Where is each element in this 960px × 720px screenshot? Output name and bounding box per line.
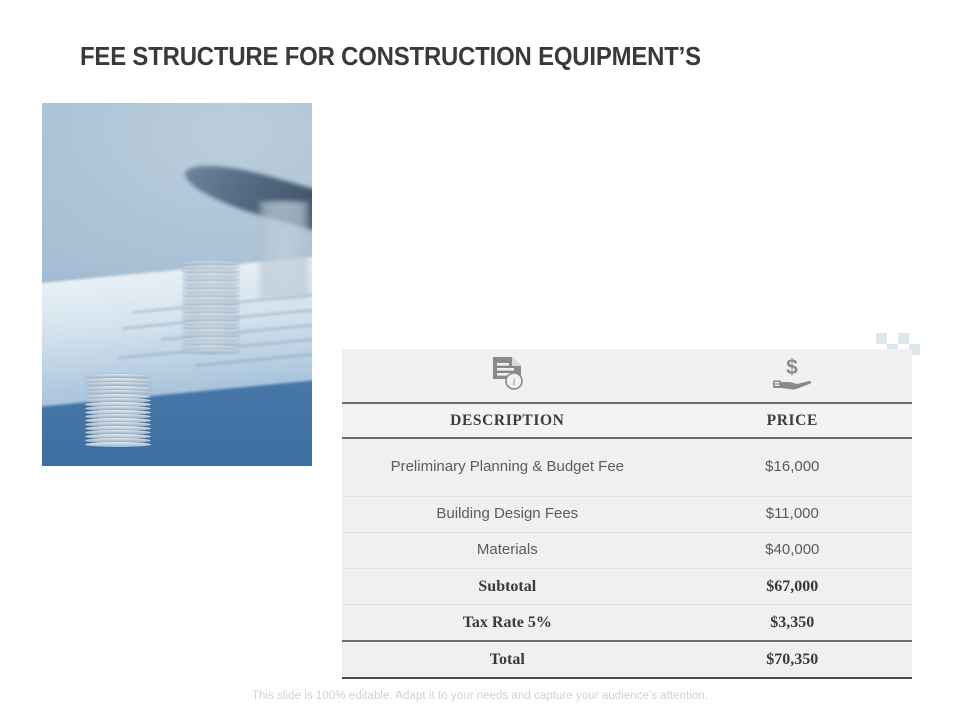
fee-structure-table: i $ DESCRIPTION PRICE — [342, 349, 912, 679]
row-price: $3,350 — [673, 605, 912, 642]
coin-stack-back — [258, 201, 310, 321]
coin-stack-middle — [182, 261, 240, 379]
row-price: $16,000 — [673, 438, 912, 497]
row-price: $67,000 — [673, 569, 912, 605]
coin-stack-front — [85, 374, 151, 466]
row-description: Subtotal — [342, 569, 673, 605]
column-header-description: DESCRIPTION — [342, 403, 673, 438]
table-row-tax-rate: Tax Rate 5% $3,350 — [342, 605, 912, 642]
description-icon-cell: i — [342, 349, 673, 403]
table-row: Building Design Fees $11,000 — [342, 497, 912, 533]
table-row-total: Total $70,350 — [342, 641, 912, 678]
document-info-icon: i — [490, 355, 524, 396]
page-title: FEE STRUCTURE FOR CONSTRUCTION EQUIPMENT… — [80, 41, 701, 72]
svg-text:$: $ — [786, 356, 798, 379]
table-header-row: DESCRIPTION PRICE — [342, 403, 912, 438]
hand-holding-dollar-icon: $ — [770, 355, 814, 396]
row-price: $70,350 — [673, 641, 912, 678]
photo-background — [42, 103, 312, 466]
coins-photo — [42, 103, 312, 466]
table-icon-header-row: i $ — [342, 349, 912, 403]
row-description: Preliminary Planning & Budget Fee — [342, 438, 673, 497]
row-price: $40,000 — [673, 533, 912, 569]
row-description: Building Design Fees — [342, 497, 673, 533]
table-row: Materials $40,000 — [342, 533, 912, 569]
column-header-price: PRICE — [673, 403, 912, 438]
editable-slide-note: This slide is 100% editable. Adapt it to… — [0, 690, 960, 702]
price-icon-cell: $ — [673, 349, 912, 403]
svg-text:i: i — [513, 376, 516, 388]
row-description: Tax Rate 5% — [342, 605, 673, 642]
table-row-subtotal: Subtotal $67,000 — [342, 569, 912, 605]
row-price: $11,000 — [673, 497, 912, 533]
table-row: Preliminary Planning & Budget Fee $16,00… — [342, 438, 912, 497]
row-description: Materials — [342, 533, 673, 569]
row-description: Total — [342, 641, 673, 678]
